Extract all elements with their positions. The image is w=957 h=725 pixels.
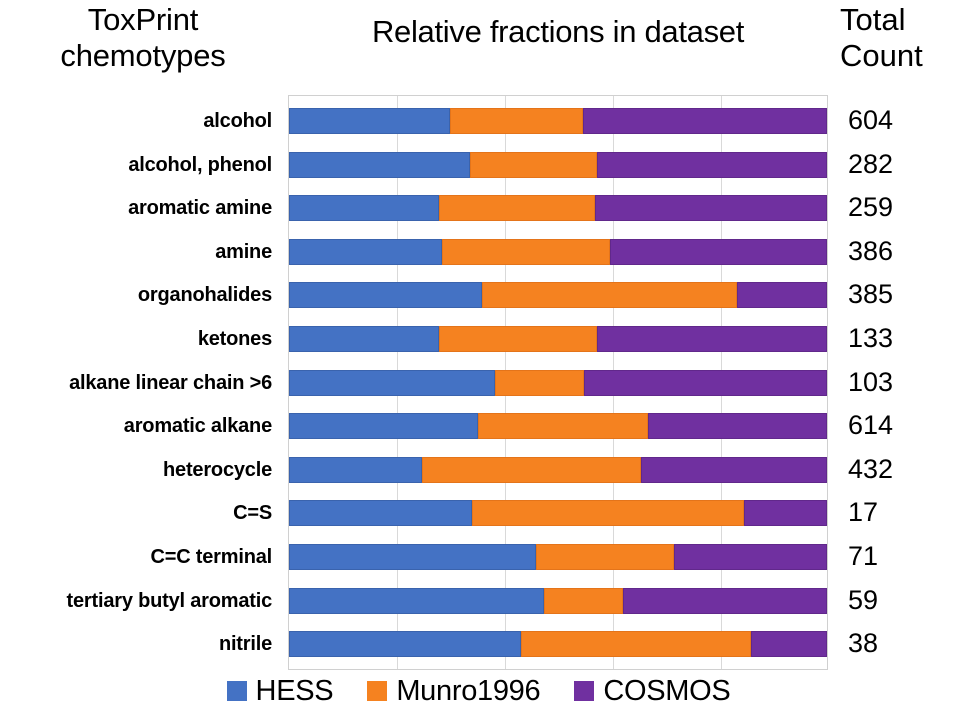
chart-legend: HESSMunro1996COSMOS [0, 676, 957, 725]
stacked-bar [289, 239, 827, 265]
row-axis-title-line2: chemotypes [12, 38, 274, 74]
legend-label: HESS [256, 676, 334, 706]
category-label: organohalides [0, 284, 272, 306]
bar-segment-munro1996 [422, 457, 641, 483]
stacked-bar [289, 413, 827, 439]
chart-header: ToxPrint chemotypes Relative fractions i… [0, 0, 957, 95]
bar-segment-munro1996 [521, 631, 750, 657]
category-label: alcohol [0, 110, 272, 132]
stacked-bar [289, 457, 827, 483]
bar-segment-hess [289, 544, 536, 570]
total-count-title: Total Count [840, 2, 957, 74]
stacked-bar [289, 108, 827, 134]
bar-segment-cosmos [648, 413, 827, 439]
bar-segment-cosmos [595, 195, 827, 221]
legend-item-hess[interactable]: HESS [227, 676, 334, 706]
bar-segment-hess [289, 588, 544, 614]
bar-segment-munro1996 [544, 588, 623, 614]
bar-segment-hess [289, 152, 470, 178]
bar-segment-hess [289, 195, 439, 221]
bar-segment-munro1996 [470, 152, 598, 178]
total-count-values: 60428225938638513310361443217715938 [840, 95, 957, 670]
chart-body: alcoholalcohol, phenolaromatic amineamin… [0, 95, 957, 670]
legend-item-cosmos[interactable]: COSMOS [574, 676, 730, 706]
stacked-bar [289, 282, 827, 308]
category-label: C=S [0, 502, 272, 524]
stacked-bar [289, 152, 827, 178]
bar-segment-cosmos [597, 326, 827, 352]
total-count-value: 17 [848, 498, 957, 526]
total-count-value: 59 [848, 586, 957, 614]
total-count-value: 103 [848, 368, 957, 396]
bar-segment-munro1996 [439, 326, 598, 352]
total-count-value: 386 [848, 237, 957, 265]
category-label: ketones [0, 328, 272, 350]
bar-segment-hess [289, 108, 450, 134]
category-labels: alcoholalcohol, phenolaromatic amineamin… [0, 95, 280, 670]
plot-area [288, 95, 828, 670]
stacked-bar [289, 370, 827, 396]
bar-segment-cosmos [597, 152, 827, 178]
total-count-title-line2: Count [840, 38, 957, 74]
total-count-value: 259 [848, 193, 957, 221]
bar-segment-cosmos [674, 544, 827, 570]
bar-segment-hess [289, 500, 472, 526]
stacked-bar [289, 588, 827, 614]
legend-label: Munro1996 [396, 676, 540, 706]
category-label: alkane linear chain >6 [0, 372, 272, 394]
category-label: alcohol, phenol [0, 154, 272, 176]
bar-segment-cosmos [641, 457, 827, 483]
bar-segment-cosmos [583, 108, 827, 134]
category-label: nitrile [0, 633, 272, 655]
stacked-bar [289, 544, 827, 570]
stacked-bar [289, 326, 827, 352]
category-label: amine [0, 241, 272, 263]
legend-item-munro1996[interactable]: Munro1996 [367, 676, 540, 706]
total-count-title-line1: Total [840, 2, 957, 38]
bar-segment-hess [289, 239, 442, 265]
legend-swatch-cosmos [574, 681, 594, 701]
bar-segment-munro1996 [536, 544, 674, 570]
total-count-value: 38 [848, 629, 957, 657]
legend-swatch-hess [227, 681, 247, 701]
bar-segment-munro1996 [439, 195, 595, 221]
bar-segment-cosmos [623, 588, 827, 614]
stacked-bar [289, 195, 827, 221]
bar-segment-hess [289, 457, 422, 483]
total-count-value: 71 [848, 542, 957, 570]
bar-segment-cosmos [610, 239, 827, 265]
stacked-bar [289, 500, 827, 526]
bar-segment-munro1996 [442, 239, 609, 265]
bar-segment-hess [289, 282, 482, 308]
bar-segment-munro1996 [478, 413, 648, 439]
category-label: aromatic alkane [0, 415, 272, 437]
stacked-bar [289, 631, 827, 657]
bar-segment-cosmos [584, 370, 827, 396]
bar-segment-munro1996 [472, 500, 744, 526]
bar-segment-munro1996 [482, 282, 738, 308]
bar-segment-hess [289, 326, 439, 352]
bar-segment-cosmos [744, 500, 827, 526]
bar-segment-munro1996 [495, 370, 584, 396]
row-axis-title: ToxPrint chemotypes [12, 2, 274, 74]
legend-swatch-munro1996 [367, 681, 387, 701]
legend-label: COSMOS [603, 676, 730, 706]
bar-segment-hess [289, 413, 478, 439]
category-label: aromatic amine [0, 197, 272, 219]
total-count-value: 432 [848, 455, 957, 483]
bar-segment-munro1996 [450, 108, 583, 134]
row-axis-title-line1: ToxPrint [12, 2, 274, 38]
total-count-value: 385 [848, 280, 957, 308]
total-count-value: 614 [848, 411, 957, 439]
category-label: C=C terminal [0, 546, 272, 568]
total-count-value: 604 [848, 106, 957, 134]
bar-segment-hess [289, 631, 521, 657]
bar-segment-cosmos [751, 631, 827, 657]
category-label: heterocycle [0, 459, 272, 481]
total-count-value: 282 [848, 150, 957, 178]
category-label: tertiary butyl aromatic [0, 590, 272, 612]
bar-segment-cosmos [737, 282, 827, 308]
total-count-value: 133 [848, 324, 957, 352]
bar-segment-hess [289, 370, 495, 396]
chart-title: Relative fractions in dataset [288, 14, 828, 50]
